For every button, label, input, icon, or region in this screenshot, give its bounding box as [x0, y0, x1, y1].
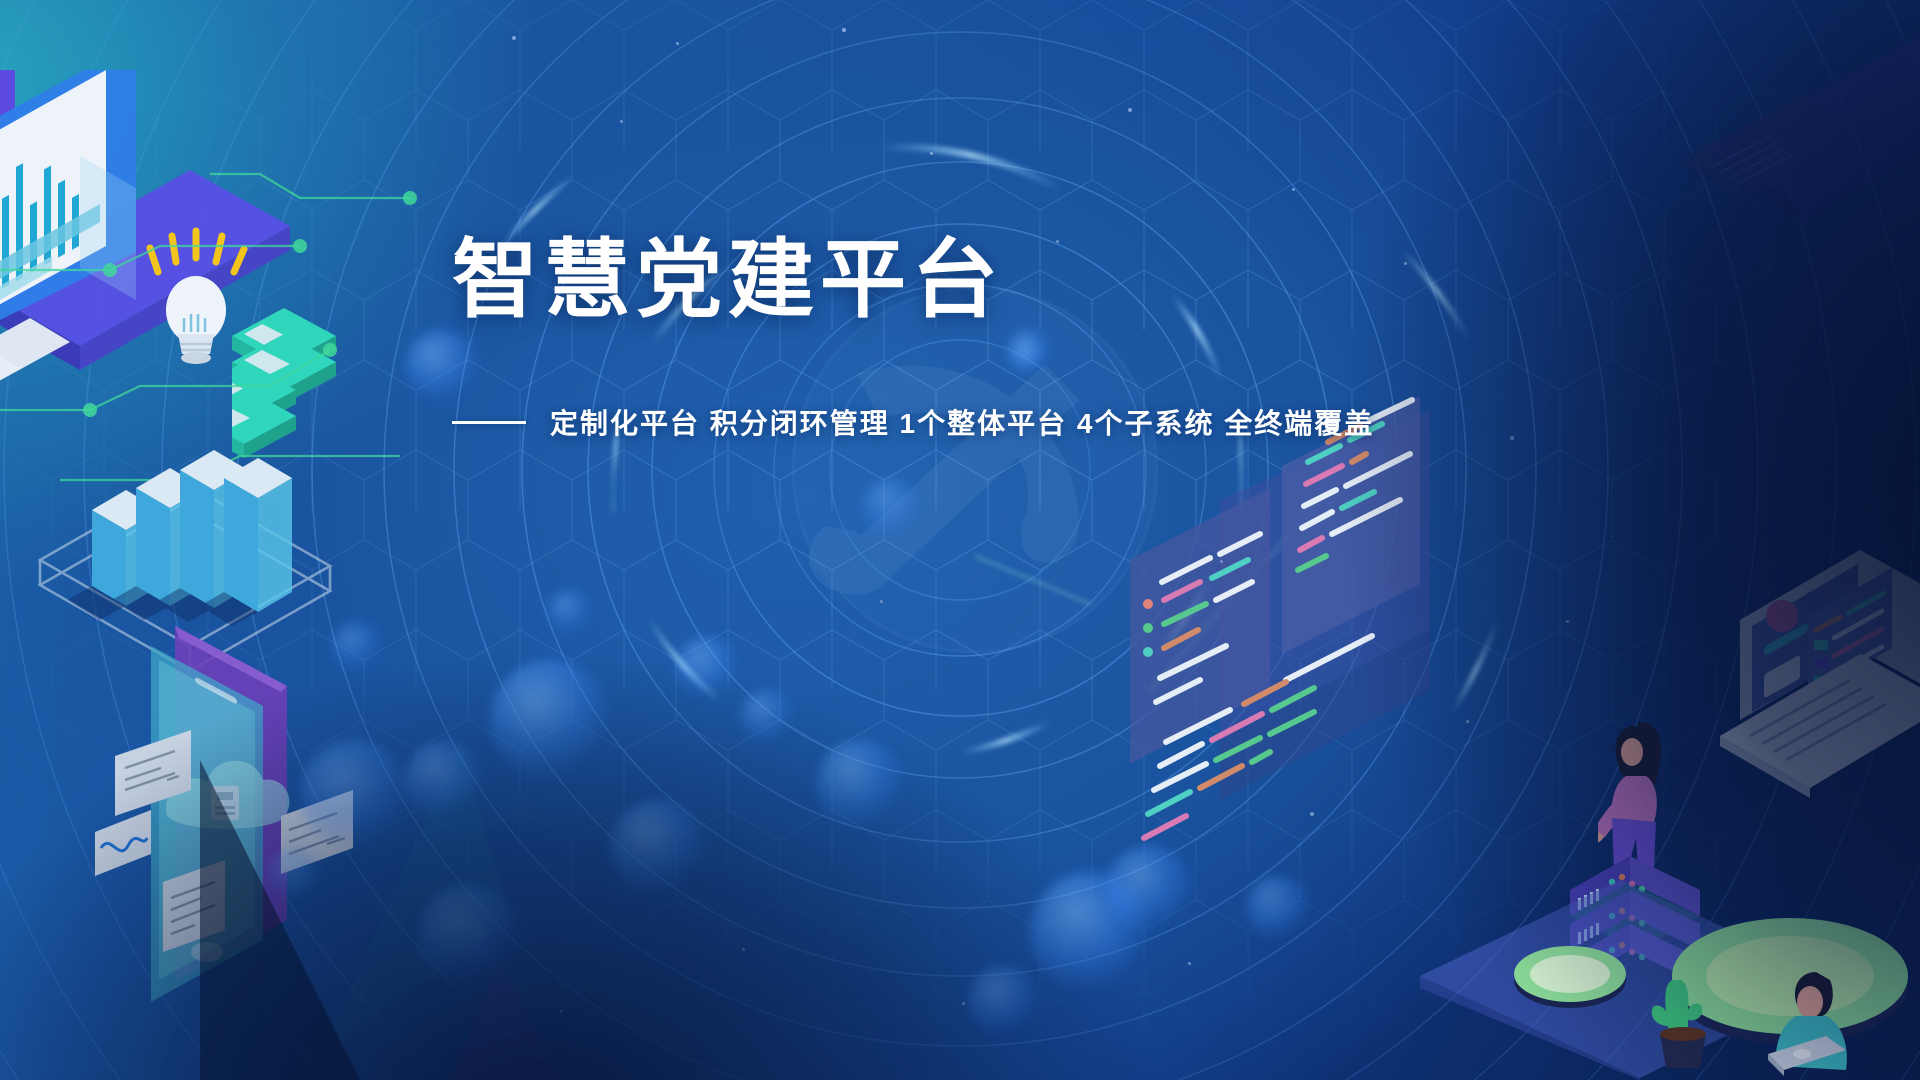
subtitle-dash: [452, 421, 526, 424]
isometric-3d-bar-chart: [30, 400, 370, 730]
banner-stage: 智慧党建平台 定制化平台 积分闭环管理 1个整体平台 4个子系统 全终端覆盖: [0, 0, 1920, 1080]
subtitle-text: 定制化平台 积分闭环管理 1个整体平台 4个子系统 全终端覆盖: [550, 402, 1374, 442]
dark-isometric-laptop: [1660, 10, 1920, 260]
background-gradient: [0, 0, 1920, 1080]
isometric-laptop: [1700, 540, 1920, 870]
green-circuit-traces: [0, 150, 430, 570]
glow-arc-decor: [0, 0, 1920, 1080]
cpc-party-emblem-watermark: [0, 0, 1920, 1080]
idea-lightbulb: [138, 218, 268, 378]
dark-vignette-overlay: [0, 0, 1920, 1080]
bokeh-layer: [0, 0, 1920, 1080]
subtitle-row: 定制化平台 积分闭环管理 1个整体平台 4个子系统 全终端覆盖: [452, 402, 1352, 442]
isometric-floor-platform: [1420, 880, 1920, 1080]
isometric-dashboard-wall: [1100, 360, 1580, 920]
hexagon-mesh-pattern: [0, 0, 1920, 1080]
isometric-monitor-bar-chart: [0, 70, 420, 490]
standing-person-figure: [1598, 718, 1708, 888]
stacked-server-chips: [232, 300, 392, 460]
dark-triangle-shapes: [200, 720, 760, 1080]
isometric-smartphone-cloud: [55, 610, 385, 1030]
server-rack-stack: [1570, 850, 1760, 1040]
cactus-plant: [1640, 950, 1720, 1070]
banner-text-block: 智慧党建平台 定制化平台 积分闭环管理 1个整体平台 4个子系统 全终端覆盖: [452, 232, 1352, 442]
purple-phone-shape: [0, 70, 15, 192]
page-title: 智慧党建平台: [452, 232, 1352, 328]
seated-person-with-laptop: [1768, 958, 1908, 1080]
concentric-ring-decor: [0, 0, 1920, 1080]
star-dots-layer: [0, 0, 1920, 1080]
